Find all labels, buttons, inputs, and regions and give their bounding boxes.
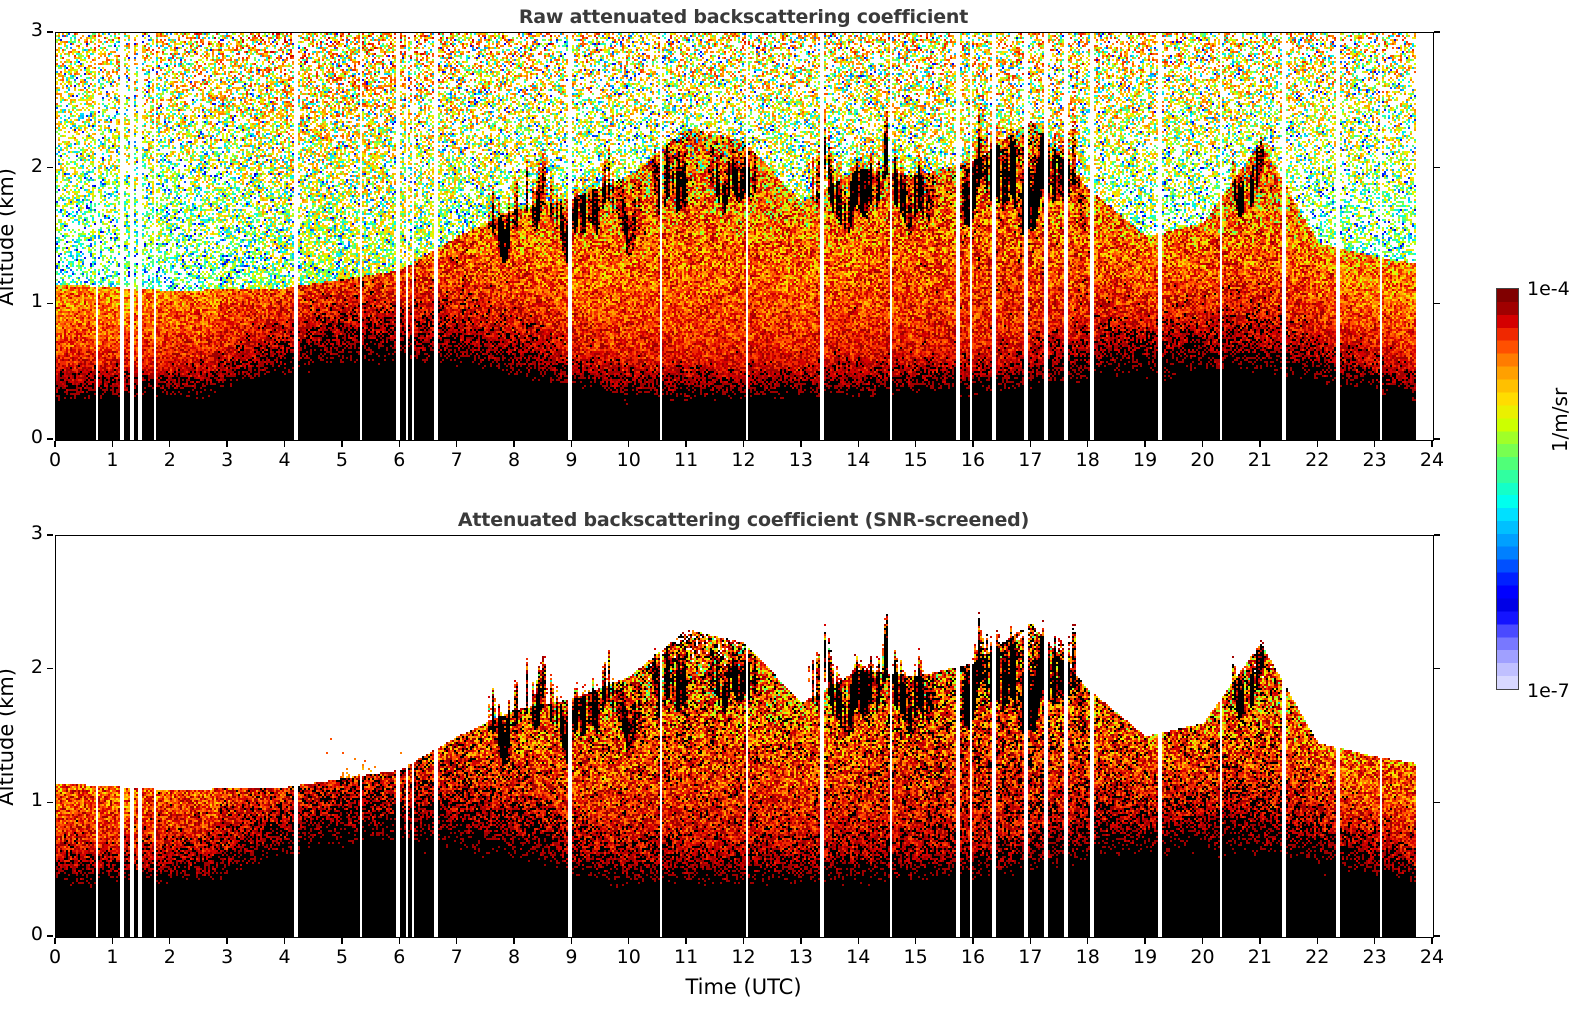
x-tick-label: 4: [263, 449, 307, 471]
x-tick-label: 3: [205, 946, 249, 968]
x-tick: [1087, 938, 1088, 944]
heatmap-image-screened: [56, 536, 1433, 937]
x-tick-label: 8: [492, 946, 536, 968]
x-tick-label: 21: [1238, 449, 1282, 471]
x-tick: [685, 938, 686, 944]
x-tick-label: 6: [377, 946, 421, 968]
x-tick: [54, 441, 55, 447]
x-tick: [284, 938, 285, 944]
x-tick-label: 12: [722, 946, 766, 968]
x-tick: [800, 938, 801, 944]
x-tick-label: 16: [951, 449, 995, 471]
x-tick-label: 6: [377, 449, 421, 471]
x-tick-label: 11: [664, 449, 708, 471]
x-tick: [628, 938, 629, 944]
x-tick-label: 19: [1123, 946, 1167, 968]
y-tick: [47, 802, 53, 803]
y-tick-label: 1: [7, 789, 43, 811]
x-tick-label: 1: [90, 449, 134, 471]
x-tick: [858, 441, 859, 447]
y-tick: [47, 31, 53, 32]
y-tick-right: [1434, 438, 1440, 439]
x-tick: [456, 938, 457, 944]
x-tick-label: 3: [205, 449, 249, 471]
panel-title-raw: Raw attenuated backscattering coefficien…: [55, 6, 1432, 28]
y-tick-label: 2: [7, 155, 43, 177]
x-tick-label: 24: [1410, 449, 1454, 471]
y-tick-right: [1434, 668, 1440, 669]
x-tick: [1030, 441, 1031, 447]
y-tick: [47, 167, 53, 168]
x-tick: [858, 938, 859, 944]
x-tick-label: 7: [435, 449, 479, 471]
x-tick-label: 22: [1295, 449, 1339, 471]
y-tick-right: [1434, 167, 1440, 168]
x-tick: [341, 441, 342, 447]
x-tick-label: 20: [1181, 946, 1225, 968]
x-tick: [456, 441, 457, 447]
x-tick-label: 11: [664, 946, 708, 968]
x-tick: [1144, 441, 1145, 447]
x-tick: [284, 441, 285, 447]
y-tick: [47, 935, 53, 936]
x-tick-label: 20: [1181, 449, 1225, 471]
x-tick-label: 17: [1008, 946, 1052, 968]
x-tick-label: 15: [894, 946, 938, 968]
x-tick: [915, 938, 916, 944]
x-tick-label: 5: [320, 946, 364, 968]
x-tick: [169, 441, 170, 447]
y-axis-label-screened: Altitude (km): [0, 668, 18, 806]
colorbar: [1496, 288, 1519, 690]
x-tick: [972, 938, 973, 944]
x-tick-label: 9: [549, 449, 593, 471]
x-tick: [1317, 441, 1318, 447]
x-tick: [1030, 938, 1031, 944]
x-tick: [628, 441, 629, 447]
x-tick-label: 13: [779, 946, 823, 968]
x-tick-label: 2: [148, 449, 192, 471]
x-axis-label: Time (UTC): [0, 975, 1487, 999]
x-tick: [800, 441, 801, 447]
x-tick-label: 8: [492, 449, 536, 471]
y-tick: [47, 303, 53, 304]
x-tick: [743, 441, 744, 447]
x-tick-label: 16: [951, 946, 995, 968]
x-tick-label: 24: [1410, 946, 1454, 968]
x-tick: [571, 441, 572, 447]
x-tick: [915, 441, 916, 447]
y-tick-right: [1434, 935, 1440, 936]
x-tick: [743, 938, 744, 944]
x-tick: [54, 938, 55, 944]
x-tick: [1431, 441, 1432, 447]
x-tick-label: 23: [1353, 449, 1397, 471]
x-tick-label: 15: [894, 449, 938, 471]
y-tick-label: 0: [7, 426, 43, 448]
x-tick-label: 1: [90, 946, 134, 968]
x-tick-label: 22: [1295, 946, 1339, 968]
x-tick: [1317, 938, 1318, 944]
y-tick-label: 1: [7, 290, 43, 312]
x-tick: [513, 938, 514, 944]
x-tick-label: 14: [836, 449, 880, 471]
x-tick-label: 17: [1008, 449, 1052, 471]
x-tick: [1374, 938, 1375, 944]
x-tick: [1259, 441, 1260, 447]
x-tick-label: 18: [1066, 946, 1110, 968]
x-tick-label: 4: [263, 946, 307, 968]
x-tick-label: 2: [148, 946, 192, 968]
x-tick: [112, 938, 113, 944]
x-tick-label: 12: [722, 449, 766, 471]
y-tick-label: 3: [7, 19, 43, 41]
x-tick: [685, 441, 686, 447]
x-tick-label: 13: [779, 449, 823, 471]
x-tick: [1259, 938, 1260, 944]
x-tick: [399, 441, 400, 447]
y-axis-label-raw: Altitude (km): [0, 168, 18, 306]
y-tick: [47, 668, 53, 669]
heatmap-axes-screened: [55, 535, 1434, 938]
colorbar-max-label: 1e-4: [1527, 278, 1570, 300]
x-tick-label: 23: [1353, 946, 1397, 968]
y-tick-right: [1434, 534, 1440, 535]
x-tick: [399, 938, 400, 944]
x-tick-label: 10: [607, 946, 651, 968]
x-tick-label: 18: [1066, 449, 1110, 471]
y-tick-right: [1434, 303, 1440, 304]
colorbar-unit-label: 1/m/sr: [1548, 388, 1572, 452]
x-tick: [972, 441, 973, 447]
x-tick-label: 7: [435, 946, 479, 968]
x-tick: [513, 441, 514, 447]
figure-canvas: Raw attenuated backscattering coefficien…: [0, 0, 1595, 1020]
y-tick-label: 3: [7, 522, 43, 544]
x-tick-label: 9: [549, 946, 593, 968]
x-tick: [1087, 441, 1088, 447]
y-tick: [47, 534, 53, 535]
x-tick: [341, 938, 342, 944]
x-tick-label: 19: [1123, 449, 1167, 471]
y-tick-label: 2: [7, 656, 43, 678]
panel-title-screened: Attenuated backscattering coefficient (S…: [55, 509, 1432, 531]
x-tick-label: 21: [1238, 946, 1282, 968]
x-tick-label: 5: [320, 449, 364, 471]
x-tick: [1374, 441, 1375, 447]
x-tick-label: 0: [33, 449, 77, 471]
x-tick: [226, 441, 227, 447]
colorbar-gradient: [1496, 288, 1519, 690]
x-tick-label: 14: [836, 946, 880, 968]
x-tick-label: 0: [33, 946, 77, 968]
y-tick-right: [1434, 802, 1440, 803]
x-tick: [1202, 441, 1203, 447]
y-tick-right: [1434, 31, 1440, 32]
x-tick: [112, 441, 113, 447]
colorbar-min-label: 1e-7: [1527, 680, 1570, 702]
heatmap-axes-raw: [55, 32, 1434, 441]
x-tick: [1202, 938, 1203, 944]
x-tick: [1144, 938, 1145, 944]
x-tick-label: 10: [607, 449, 651, 471]
x-tick: [1431, 938, 1432, 944]
heatmap-image-raw: [56, 33, 1433, 440]
y-tick-label: 0: [7, 923, 43, 945]
x-tick: [226, 938, 227, 944]
x-tick: [169, 938, 170, 944]
y-tick: [47, 438, 53, 439]
x-tick: [571, 938, 572, 944]
